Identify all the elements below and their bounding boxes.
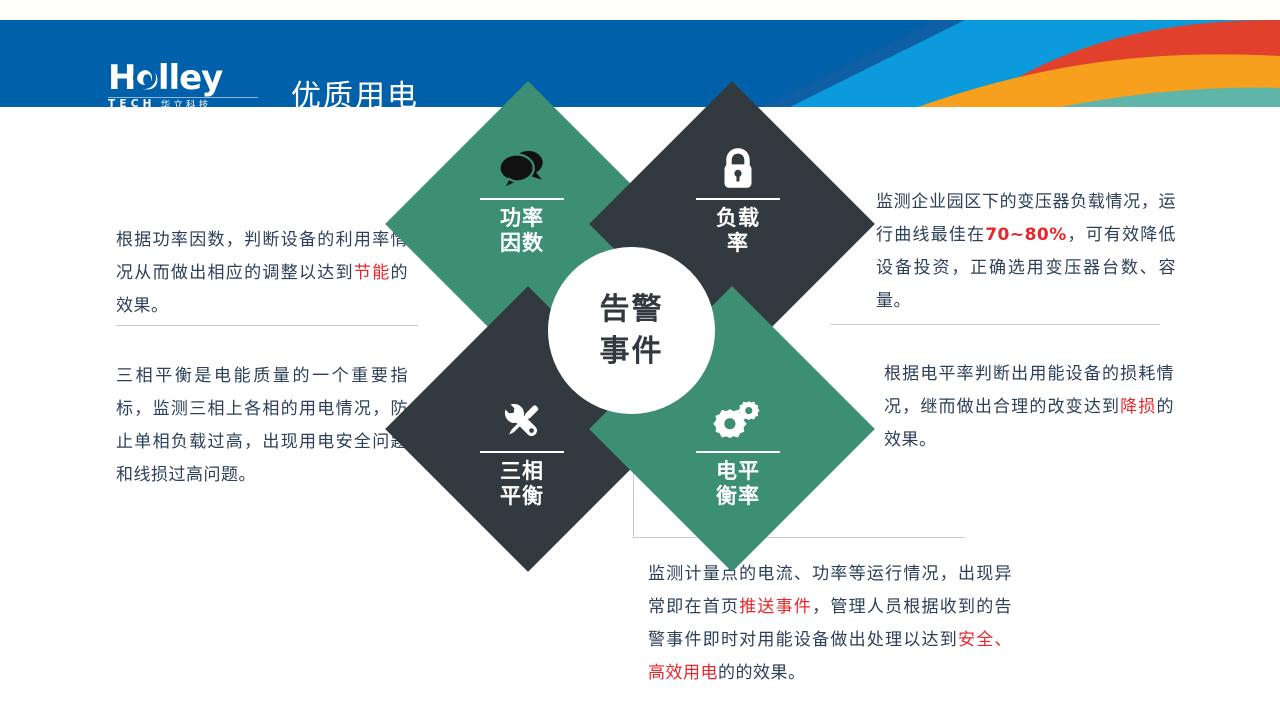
diamond-cluster: 功率因数 负载率 <box>420 123 840 540</box>
page-header: Holley TECH 华立科技 优质用电 <box>0 20 1280 107</box>
diamond-separator <box>480 451 564 453</box>
top-edge-strip <box>0 0 1280 20</box>
padlock-icon <box>711 145 765 191</box>
paragraph-level-balance: 根据电平率判断出用能设备的损耗情况，继而做出合理的改变达到降损的效果。 <box>884 358 1174 457</box>
holley-logo: Holley TECH 华立科技 <box>108 60 258 107</box>
diamond-label-level-balance: 电平衡率 <box>716 459 760 509</box>
center-hub-label: 告警事件 <box>600 289 664 373</box>
text-segment: 节能 <box>354 263 391 283</box>
divider-left <box>116 325 418 326</box>
diamond-label-three-phase: 三相平衡 <box>500 459 544 509</box>
paragraph-power-factor: 根据功率因数，判断设备的利用率情况从而做出相应的调整以达到节能的效果。 <box>116 224 408 323</box>
diamond-label-power-factor: 功率因数 <box>500 206 544 256</box>
header-swoosh-graphic <box>760 20 1280 107</box>
text-segment: 70~80% <box>985 225 1067 245</box>
tools-icon <box>495 398 549 444</box>
text-segment: 的的效果。 <box>718 663 806 683</box>
diamond-separator <box>696 451 780 453</box>
diamond-label-load-rate: 负载率 <box>716 206 760 256</box>
logo-subtitle: TECH 华立科技 <box>108 97 258 107</box>
logo-chinese-text: 华立科技 <box>161 97 212 107</box>
paragraph-alarm-event: 监测计量点的电流、功率等运行情况，出现异常即在首页推送事件，管理人员根据收到的告… <box>648 558 1012 690</box>
logo-o-ring-icon <box>133 66 156 89</box>
paragraph-load-rate: 监测企业园区下的变压器负载情况，运行曲线最佳在70~80%，可有效降低设备投资，… <box>876 186 1176 318</box>
center-hub: 告警事件 <box>548 247 715 414</box>
text-segment: 三相平衡是电能质量的一个重要指标，监测三相上各相的用电情况，防止单相负载过高，出… <box>116 366 408 485</box>
text-segment: 推送事件 <box>739 597 812 617</box>
diamond-separator <box>696 198 780 200</box>
gears-icon <box>711 398 765 444</box>
logo-wordmark: Holley <box>108 60 258 96</box>
logo-tech-text: TECH <box>108 98 156 107</box>
divider-right <box>830 324 1160 325</box>
logo-divider <box>108 97 258 98</box>
page-title: 优质用电 <box>291 71 419 107</box>
text-segment: 降损 <box>1120 397 1156 417</box>
diamond-separator <box>480 198 564 200</box>
paragraph-three-phase: 三相平衡是电能质量的一个重要指标，监测三相上各相的用电情况，防止单相负载过高，出… <box>116 360 408 492</box>
chat-bubbles-icon <box>495 145 549 191</box>
